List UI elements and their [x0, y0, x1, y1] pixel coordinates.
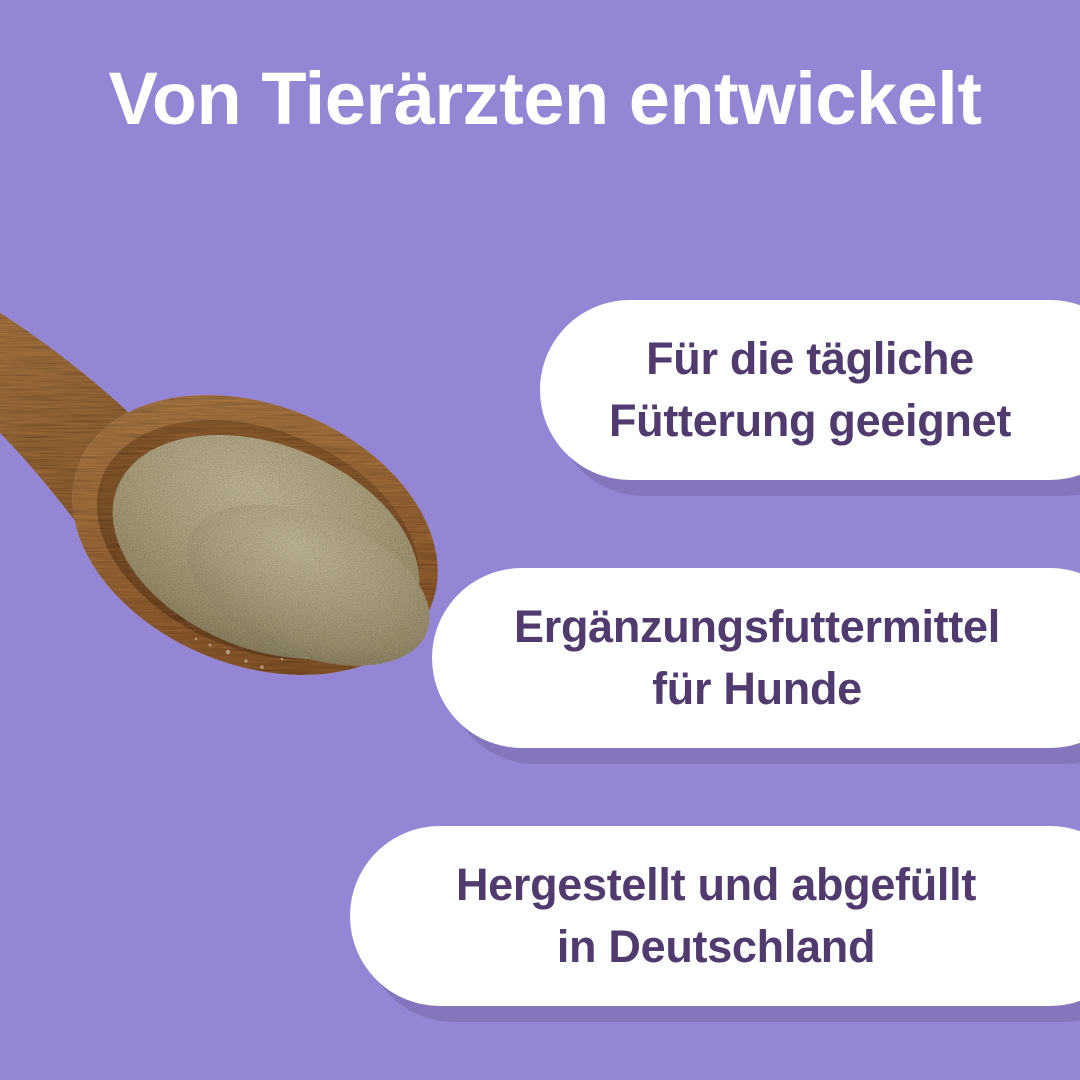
benefit-pill-daily-feeding: Für die tägliche Fütterung geeignet: [540, 300, 1080, 480]
benefit-pill-label: Ergänzungsfuttermittel für Hunde: [514, 596, 1000, 720]
benefit-pill-made-in-germany: Hergestellt und abgefüllt in Deutschland: [350, 826, 1080, 1006]
spoon-bowl: [30, 343, 480, 726]
promo-graphic: Von Tierärzten entwickelt: [0, 0, 1080, 1080]
scattered-grains: [195, 638, 284, 669]
spoon-handle: [0, 240, 202, 575]
page-title: Von Tierärzten entwickelt: [0, 62, 1080, 136]
powder-overflow: [163, 472, 453, 698]
benefit-pill-label: Für die tägliche Fütterung geeignet: [609, 328, 1011, 452]
benefit-pill-supplement-for-dogs: Ergänzungsfuttermittel für Hunde: [432, 568, 1080, 748]
powder-heap: [79, 392, 452, 701]
benefit-pill-label: Hergestellt und abgefüllt in Deutschland: [456, 854, 976, 978]
